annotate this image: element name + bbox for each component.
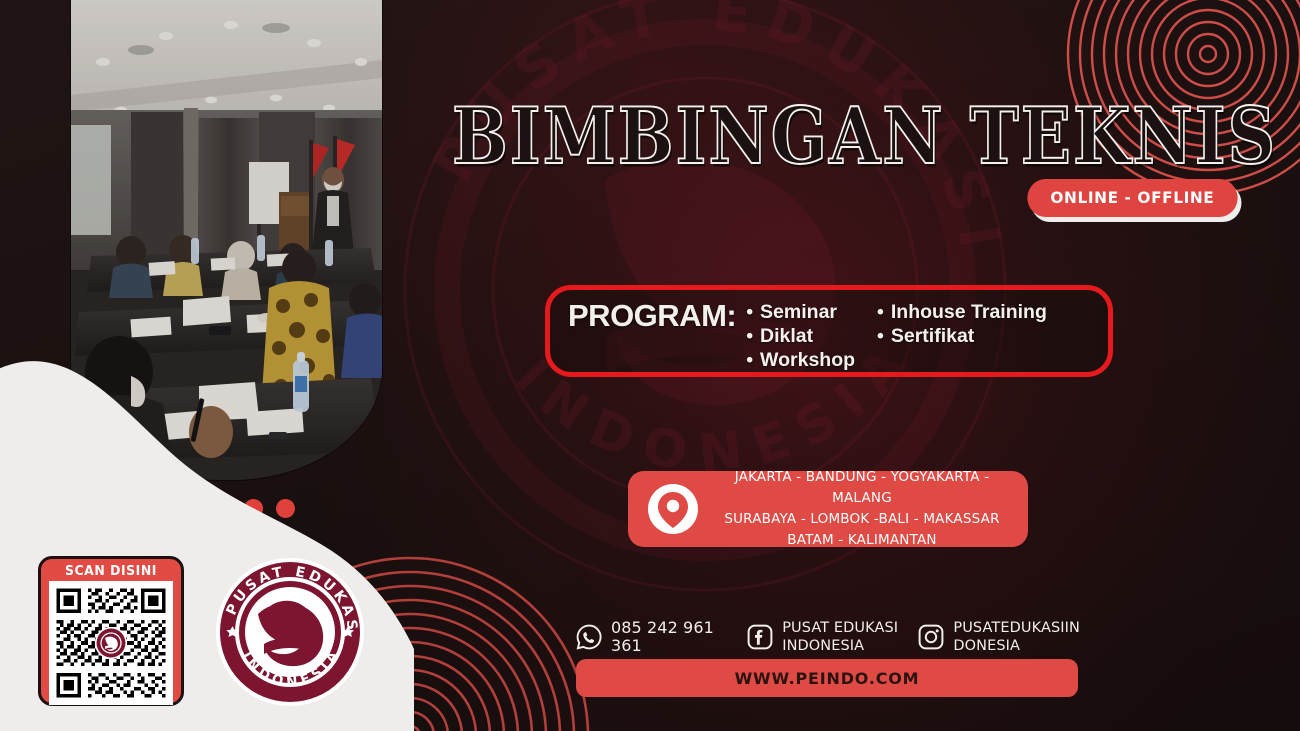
qr-scan-card[interactable]: SCAN DISINI <box>38 556 184 706</box>
location-line-1: JAKARTA - BANDUNG - YOGYAKARTA - MALANG <box>710 467 1014 509</box>
contact-row: 085 242 961 361 PUSAT EDUKASI INDONESIA … <box>576 612 1080 662</box>
instagram-line-2: DONESIA <box>953 637 1080 655</box>
instagram-line-1: PUSATEDUKASIIN <box>953 619 1080 637</box>
page-title: BIMBINGAN TEKNIS <box>452 92 1277 179</box>
dot-indicators <box>148 499 295 518</box>
location-lines: JAKARTA - BANDUNG - YOGYAKARTA - MALANG … <box>710 467 1028 551</box>
whatsapp-number: 085 242 961 361 <box>611 619 747 655</box>
qr-card-title: SCAN DISINI <box>65 562 157 581</box>
program-item: Inhouse Training <box>877 301 1047 324</box>
qr-code-icon[interactable] <box>49 581 173 705</box>
program-item: Seminar <box>746 301 855 324</box>
whatsapp-icon <box>576 624 602 650</box>
seminar-photo <box>71 0 382 480</box>
program-column-1: Seminar Diklat Workshop <box>746 301 855 372</box>
contact-facebook[interactable]: PUSAT EDUKASI INDONESIA <box>747 619 918 655</box>
dot-5 <box>276 499 295 518</box>
contact-facebook-text: PUSAT EDUKASI INDONESIA <box>782 619 898 655</box>
website-bar[interactable]: WWW.PEINDO.COM <box>576 659 1078 697</box>
facebook-line-2: INDONESIA <box>782 637 898 655</box>
dot-3 <box>212 499 231 518</box>
contact-instagram[interactable]: PUSATEDUKASIIN DONESIA <box>918 619 1080 655</box>
status-badge: ONLINE - OFFLINE <box>1028 179 1238 217</box>
contact-whatsapp[interactable]: 085 242 961 361 <box>576 619 747 655</box>
location-line-3: BATAM - KALIMANTAN <box>710 530 1014 551</box>
program-item: Diklat <box>746 325 855 348</box>
location-line-2: SURABAYA - LOMBOK -BALI - MAKASSAR <box>710 509 1014 530</box>
program-column-2: Inhouse Training Sertifikat <box>877 301 1047 372</box>
program-box: PROGRAM: Seminar Diklat Workshop Inhouse… <box>545 285 1113 377</box>
dot-1 <box>148 499 167 518</box>
seminar-photo-image <box>71 0 382 480</box>
program-item: Workshop <box>746 349 855 372</box>
instagram-icon <box>918 624 944 650</box>
pusat-edukasi-seal-logo: PUSAT EDUKASI INDONESIA <box>214 556 366 708</box>
facebook-icon <box>747 624 773 650</box>
program-item: Sertifikat <box>877 325 1047 348</box>
poster-canvas: PUSAT EDUKASI INDONESIA <box>0 0 1300 731</box>
contact-instagram-text: PUSATEDUKASIIN DONESIA <box>953 619 1080 655</box>
location-badge: JAKARTA - BANDUNG - YOGYAKARTA - MALANG … <box>628 471 1028 547</box>
program-columns: Seminar Diklat Workshop Inhouse Training… <box>746 299 1047 372</box>
dot-2 <box>180 499 199 518</box>
program-label: PROGRAM: <box>568 299 736 333</box>
contact-whatsapp-text: 085 242 961 361 <box>611 619 747 655</box>
map-pin-icon <box>648 484 698 534</box>
facebook-line-1: PUSAT EDUKASI <box>782 619 898 637</box>
dot-4 <box>244 499 263 518</box>
qr-center-seal-icon <box>94 626 128 660</box>
